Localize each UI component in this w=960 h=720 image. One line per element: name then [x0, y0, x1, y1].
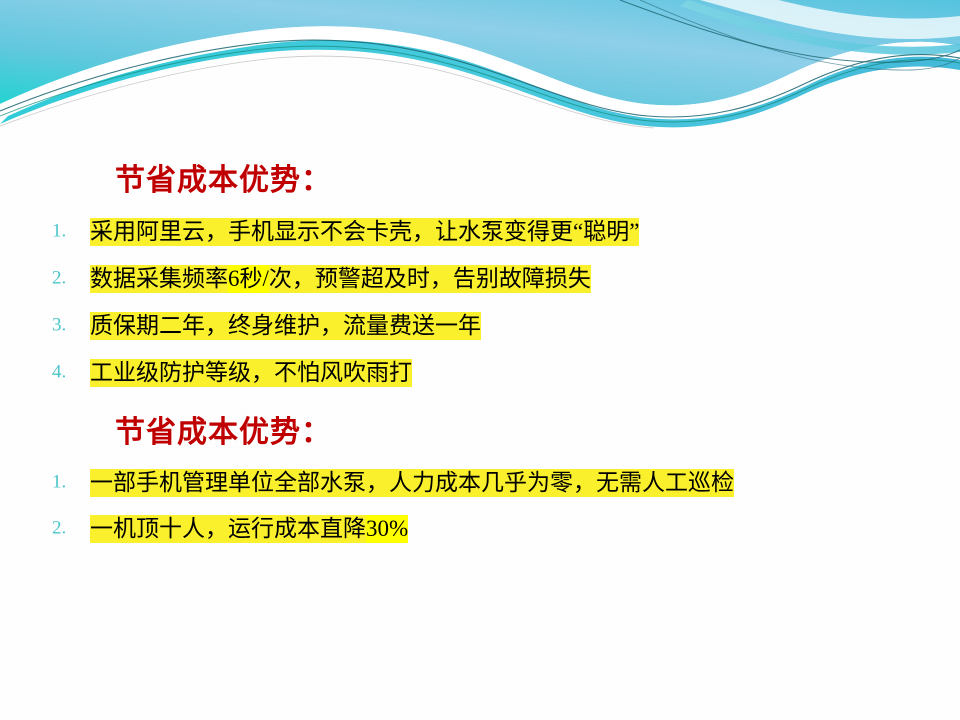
highlighted-text: 数据采集频率	[90, 265, 228, 293]
bullet-list-1: 1. 采用阿里云，手机显示不会卡壳，让水泵变得更“聪明” 2. 数据采集频率6秒…	[0, 208, 960, 396]
banner-contour-line-1	[0, 40, 960, 117]
highlighted-text: 采用阿里云，手机显示不会卡壳，让水泵变得更“聪明”	[90, 218, 639, 246]
list-item-number: 1.	[52, 472, 66, 494]
banner-white-gap	[0, 26, 960, 119]
list-item-text: 一机顶十人，运行成本直降30%	[90, 514, 408, 543]
section-heading-1: 节省成本优势：	[0, 166, 960, 196]
highlighted-text: 一部手机管理单位全部水泵，人力成本几乎为零，无需人工巡检	[90, 469, 734, 497]
list-item: 1. 一部手机管理单位全部水泵，人力成本几乎为零，无需人工巡检	[0, 460, 960, 506]
banner-contour-line-3	[620, 0, 960, 62]
list-item-text: 一部手机管理单位全部水泵，人力成本几乎为零，无需人工巡检	[90, 468, 734, 497]
list-item-number: 2.	[52, 518, 66, 540]
wave-banner	[0, 0, 960, 132]
bullet-list-2: 1. 一部手机管理单位全部水泵，人力成本几乎为零，无需人工巡检 2. 一机顶十人…	[0, 460, 960, 552]
list-item: 2. 一机顶十人，运行成本直降30%	[0, 506, 960, 552]
highlighted-text-bright: 30%	[366, 515, 408, 543]
banner-contour-line-5	[0, 56, 654, 128]
list-item-number: 1.	[52, 220, 66, 242]
wave-banner-graphic	[0, 0, 960, 132]
presentation-slide: 节省成本优势： 1. 采用阿里云，手机显示不会卡壳，让水泵变得更“聪明” 2. …	[0, 0, 960, 720]
banner-highlight-shape	[700, 0, 960, 39]
section-heading-2: 节省成本优势：	[0, 418, 960, 448]
list-item-text: 数据采集频率6秒/次，预警超及时，告别故障损失	[90, 264, 591, 293]
highlighted-text: 次，预警超及时，告别故障损失	[269, 265, 591, 293]
highlighted-text: 一机顶十人，运行成本直降	[90, 515, 366, 543]
list-item: 3. 质保期二年，终身维护，流量费送一年	[0, 302, 960, 349]
list-item-text: 质保期二年，终身维护，流量费送一年	[90, 311, 481, 340]
list-item-number: 2.	[52, 267, 66, 289]
list-item-text: 工业级防护等级，不怕风吹雨打	[90, 358, 412, 387]
banner-main-shape	[0, 0, 960, 105]
banner-contour-line-2	[0, 46, 960, 122]
banner-contour-line-4	[640, 0, 960, 70]
banner-ribbon-cyan	[0, 40, 960, 127]
list-item: 1. 采用阿里云，手机显示不会卡壳，让水泵变得更“聪明”	[0, 208, 960, 255]
highlighted-text: 工业级防护等级，不怕风吹雨打	[90, 359, 412, 387]
highlighted-text-bright: 6秒/	[228, 265, 269, 293]
list-item-number: 4.	[52, 361, 66, 383]
list-item-number: 3.	[52, 314, 66, 336]
list-item: 2. 数据采集频率6秒/次，预警超及时，告别故障损失	[0, 255, 960, 302]
banner-ribbon-light	[680, 0, 960, 55]
list-item: 4. 工业级防护等级，不怕风吹雨打	[0, 349, 960, 396]
slide-content: 节省成本优势： 1. 采用阿里云，手机显示不会卡壳，让水泵变得更“聪明” 2. …	[0, 132, 960, 552]
list-item-text: 采用阿里云，手机显示不会卡壳，让水泵变得更“聪明”	[90, 217, 639, 246]
highlighted-text: 质保期二年，终身维护，流量费送一年	[90, 312, 481, 340]
